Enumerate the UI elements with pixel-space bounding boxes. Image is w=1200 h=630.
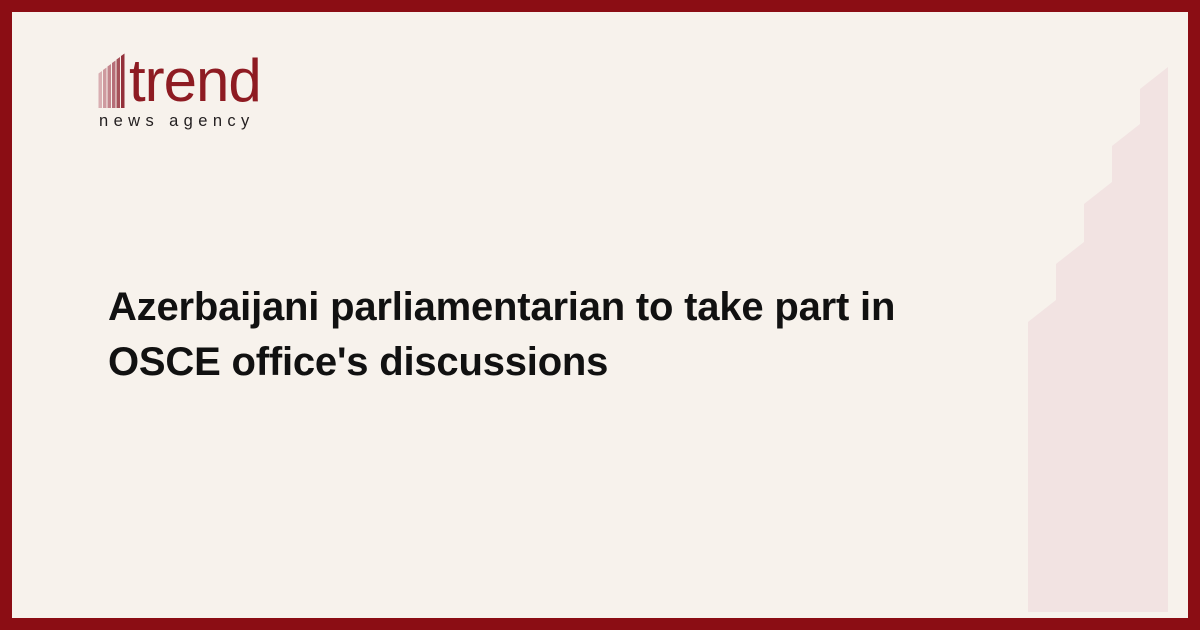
watermark-bar-2 xyxy=(1056,242,1084,612)
social-share-card: trend news agency Azerbaijani parliament… xyxy=(0,0,1200,630)
logo-wordmark: trend xyxy=(129,52,261,110)
watermark-bar-5 xyxy=(1140,67,1168,612)
watermark-bar-3 xyxy=(1084,182,1112,612)
ascending-bars-watermark xyxy=(988,12,1188,630)
ascending-bars-logo-mark xyxy=(97,50,127,108)
watermark-bar-group xyxy=(1028,67,1168,612)
brand-logo[interactable]: trend news agency xyxy=(97,46,327,146)
article-headline: Azerbaijani parliamentarian to take part… xyxy=(108,280,1008,390)
logo-tagline: news agency xyxy=(99,112,327,131)
logo-top-row: trend xyxy=(97,46,327,108)
watermark-bar-4 xyxy=(1112,124,1140,612)
watermark-bar-1 xyxy=(1028,300,1056,612)
